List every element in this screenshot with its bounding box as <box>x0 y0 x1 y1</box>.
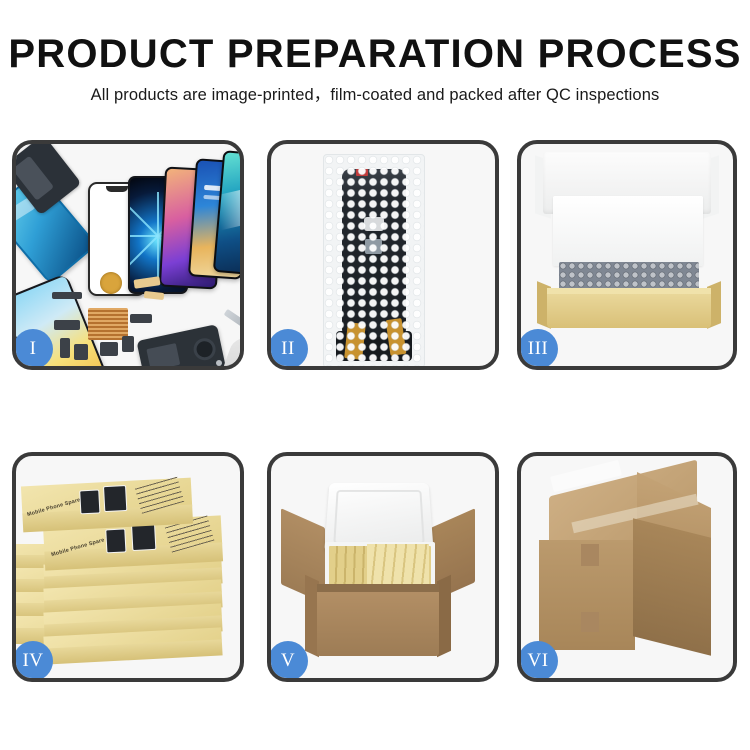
flex-cable-small-icon <box>144 291 165 300</box>
speaker-module-icon <box>100 342 118 356</box>
foam-sheet-icon <box>553 196 703 266</box>
camera-module-icon <box>74 344 88 360</box>
box-stack-printed-1: Mobile Phone Spare Parts <box>21 478 193 533</box>
bubble-wrap-bag-icon <box>323 154 425 366</box>
copper-grid-part-icon <box>88 308 128 340</box>
connector-part-icon <box>54 320 80 330</box>
box-front-icon <box>547 294 711 328</box>
step-panel-5[interactable]: V <box>267 452 499 682</box>
step-badge-2: II <box>268 329 308 369</box>
box-product-image-icon <box>79 489 100 514</box>
carton-right-side-icon <box>437 575 451 658</box>
carton-side-face-icon <box>633 518 711 655</box>
process-step-grid: I II <box>0 0 750 750</box>
step-panel-2[interactable]: II <box>267 140 499 370</box>
vibration-motor-icon <box>100 272 122 294</box>
bubble-texture <box>324 155 424 366</box>
carton-front-icon <box>317 584 439 656</box>
carton-tab-lower-icon <box>581 612 599 632</box>
battery-connector-icon <box>122 336 134 352</box>
step-badge-4: IV <box>13 641 53 681</box>
screw-icon <box>228 364 234 366</box>
antenna-flex-icon <box>130 314 152 323</box>
step-badge-3: III <box>518 329 558 369</box>
step-6-illustration <box>521 456 733 678</box>
logic-board-icon <box>136 324 229 366</box>
step-panel-4[interactable]: Mobile Phone Spare Parts Mobile Phone Sp… <box>12 452 244 682</box>
box-product-image-icon <box>131 524 156 551</box>
step-badge-5: V <box>268 641 308 681</box>
step-2-illustration <box>271 144 495 366</box>
yellow-boxes-row-2-icon <box>367 544 429 586</box>
step-1-illustration <box>16 144 240 366</box>
step-panel-6[interactable]: VI <box>517 452 737 682</box>
step-badge-1: I <box>13 329 53 369</box>
box-product-image-icon <box>103 485 127 512</box>
step-5-illustration <box>271 456 495 678</box>
step-3-illustration <box>521 144 733 366</box>
speaker-part-icon <box>52 292 82 299</box>
tweezers-icon <box>224 309 240 338</box>
step-panel-1[interactable]: I <box>12 140 244 370</box>
step-4-illustration: Mobile Phone Spare Parts Mobile Phone Sp… <box>16 456 240 678</box>
step-panel-3[interactable]: III <box>517 140 737 370</box>
carton-tab-upper-icon <box>581 544 599 566</box>
box-product-image-icon <box>105 528 126 553</box>
small-component-icon <box>60 338 70 358</box>
step-badge-6: VI <box>518 641 558 681</box>
screw-icon <box>216 360 222 366</box>
